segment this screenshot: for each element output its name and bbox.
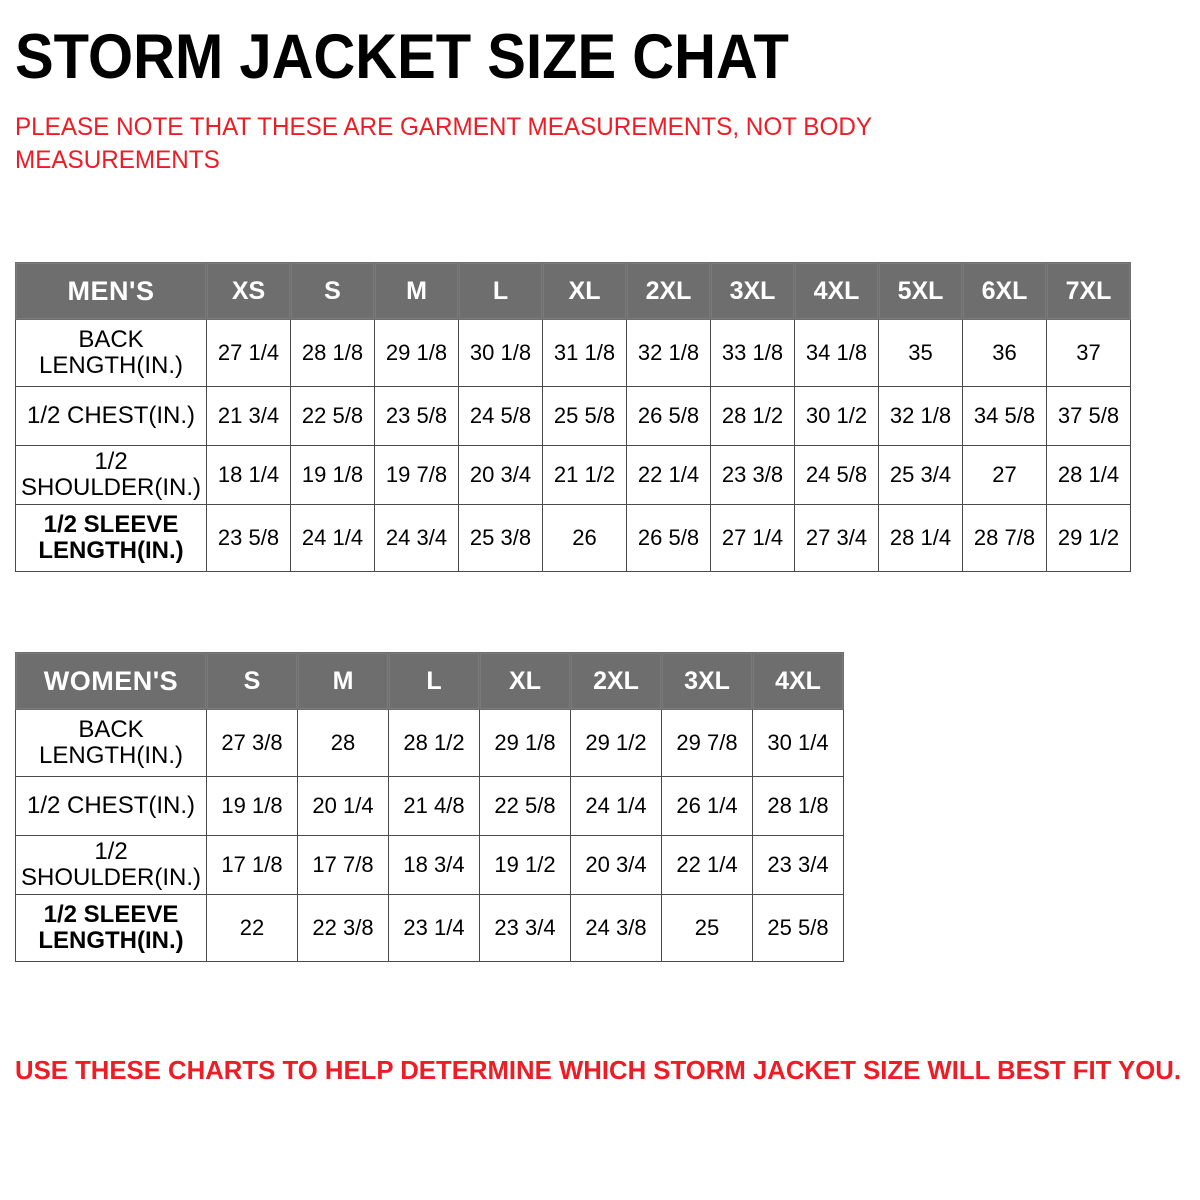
measurement-value: 32 1/8 — [879, 387, 963, 446]
size-header-2xl: 2XL — [627, 263, 711, 320]
measurement-value: 23 5/8 — [207, 505, 291, 572]
measurement-value: 34 1/8 — [795, 320, 879, 387]
measurement-value: 26 1/4 — [662, 777, 753, 836]
measurement-value: 35 — [879, 320, 963, 387]
measurement-value: 23 3/4 — [480, 895, 571, 962]
measurement-value: 28 1/8 — [753, 777, 844, 836]
measurement-value: 28 1/2 — [711, 387, 795, 446]
measurement-value: 17 7/8 — [298, 836, 389, 895]
measurement-value: 25 — [662, 895, 753, 962]
measurement-value: 19 1/8 — [291, 446, 375, 505]
measurement-value: 30 1/4 — [753, 710, 844, 777]
womens-size-table-block: WOMEN'SSMLXL2XL3XL4XL BACK LENGTH(IN.)27… — [15, 652, 844, 962]
measurement-value: 37 — [1047, 320, 1131, 387]
table-row: BACK LENGTH(IN.)27 3/82828 1/229 1/829 1… — [16, 710, 844, 777]
measurement-value: 22 5/8 — [291, 387, 375, 446]
size-header-xl: XL — [543, 263, 627, 320]
size-header-6xl: 6XL — [963, 263, 1047, 320]
measurement-label: 1/2 SLEEVE LENGTH(IN.) — [16, 895, 207, 962]
measurement-value: 18 1/4 — [207, 446, 291, 505]
measurement-value: 31 1/8 — [543, 320, 627, 387]
size-header-4xl: 4XL — [753, 653, 844, 710]
measurement-label: BACK LENGTH(IN.) — [16, 320, 207, 387]
measurement-value: 23 1/4 — [389, 895, 480, 962]
size-header-s: S — [207, 653, 298, 710]
measurement-label: BACK LENGTH(IN.) — [16, 710, 207, 777]
measurement-value: 21 1/2 — [543, 446, 627, 505]
size-header-7xl: 7XL — [1047, 263, 1131, 320]
table-row: 1/2 SHOULDER(IN.)18 1/419 1/819 7/820 3/… — [16, 446, 1131, 505]
table-row: BACK LENGTH(IN.)27 1/428 1/829 1/830 1/8… — [16, 320, 1131, 387]
measurement-value: 21 3/4 — [207, 387, 291, 446]
mens-category-header: MEN'S — [16, 263, 207, 320]
measurement-value: 37 5/8 — [1047, 387, 1131, 446]
womens-category-header: WOMEN'S — [16, 653, 207, 710]
size-header-l: L — [459, 263, 543, 320]
table-row: 1/2 SLEEVE LENGTH(IN.)2222 3/823 1/423 3… — [16, 895, 844, 962]
measurement-label: 1/2 CHEST(IN.) — [16, 387, 207, 446]
measurement-value: 27 1/4 — [207, 320, 291, 387]
measurement-value: 20 3/4 — [571, 836, 662, 895]
measurement-value: 29 1/2 — [1047, 505, 1131, 572]
measurement-value: 22 5/8 — [480, 777, 571, 836]
measurement-value: 24 3/8 — [571, 895, 662, 962]
womens-table-header: WOMEN'SSMLXL2XL3XL4XL — [16, 653, 844, 710]
measurement-value: 24 1/4 — [571, 777, 662, 836]
measurement-value: 28 1/4 — [1047, 446, 1131, 505]
measurement-label: 1/2 SLEEVE LENGTH(IN.) — [16, 505, 207, 572]
measurement-value: 29 7/8 — [662, 710, 753, 777]
table-row: 1/2 CHEST(IN.)19 1/820 1/421 4/822 5/824… — [16, 777, 844, 836]
measurement-value: 32 1/8 — [627, 320, 711, 387]
measurement-label: 1/2 SHOULDER(IN.) — [16, 836, 207, 895]
womens-table-body: BACK LENGTH(IN.)27 3/82828 1/229 1/829 1… — [16, 710, 844, 962]
measurement-value: 23 3/4 — [753, 836, 844, 895]
measurement-value: 18 3/4 — [389, 836, 480, 895]
measurement-value: 23 5/8 — [375, 387, 459, 446]
measurement-value: 19 7/8 — [375, 446, 459, 505]
measurement-value: 25 3/4 — [879, 446, 963, 505]
measurement-value: 24 1/4 — [291, 505, 375, 572]
garment-measurement-note: PLEASE NOTE THAT THESE ARE GARMENT MEASU… — [15, 89, 946, 177]
measurement-value: 17 1/8 — [207, 836, 298, 895]
measurement-value: 26 5/8 — [627, 387, 711, 446]
measurement-value: 25 3/8 — [459, 505, 543, 572]
measurement-value: 28 7/8 — [963, 505, 1047, 572]
mens-size-table: MEN'SXSSMLXL2XL3XL4XL5XL6XL7XL BACK LENG… — [15, 262, 1131, 572]
measurement-value: 20 3/4 — [459, 446, 543, 505]
size-header-2xl: 2XL — [571, 653, 662, 710]
measurement-value: 28 1/4 — [879, 505, 963, 572]
size-header-m: M — [375, 263, 459, 320]
page-title: STORM JACKET SIZE CHAT — [15, 0, 1091, 89]
table-header-row: WOMEN'SSMLXL2XL3XL4XL — [16, 653, 844, 710]
measurement-value: 26 5/8 — [627, 505, 711, 572]
measurement-value: 22 1/4 — [627, 446, 711, 505]
measurement-value: 27 — [963, 446, 1047, 505]
size-header-xl: XL — [480, 653, 571, 710]
size-header-3xl: 3XL — [711, 263, 795, 320]
size-header-xs: XS — [207, 263, 291, 320]
mens-table-header: MEN'SXSSMLXL2XL3XL4XL5XL6XL7XL — [16, 263, 1131, 320]
measurement-value: 30 1/8 — [459, 320, 543, 387]
measurement-value: 19 1/8 — [207, 777, 298, 836]
measurement-value: 25 5/8 — [543, 387, 627, 446]
measurement-value: 29 1/8 — [375, 320, 459, 387]
measurement-label: 1/2 CHEST(IN.) — [16, 777, 207, 836]
measurement-value: 29 1/2 — [571, 710, 662, 777]
measurement-value: 26 — [543, 505, 627, 572]
table-header-row: MEN'SXSSMLXL2XL3XL4XL5XL6XL7XL — [16, 263, 1131, 320]
measurement-value: 28 1/8 — [291, 320, 375, 387]
measurement-label: 1/2 SHOULDER(IN.) — [16, 446, 207, 505]
measurement-value: 29 1/8 — [480, 710, 571, 777]
table-row: 1/2 SLEEVE LENGTH(IN.)23 5/824 1/424 3/4… — [16, 505, 1131, 572]
size-header-4xl: 4XL — [795, 263, 879, 320]
measurement-value: 27 3/4 — [795, 505, 879, 572]
table-row: 1/2 CHEST(IN.)21 3/422 5/823 5/824 5/825… — [16, 387, 1131, 446]
measurement-value: 28 1/2 — [389, 710, 480, 777]
measurement-value: 24 5/8 — [459, 387, 543, 446]
measurement-value: 27 1/4 — [711, 505, 795, 572]
measurement-value: 19 1/2 — [480, 836, 571, 895]
size-header-m: M — [298, 653, 389, 710]
measurement-value: 33 1/8 — [711, 320, 795, 387]
size-chart-page: STORM JACKET SIZE CHAT PLEASE NOTE THAT … — [0, 0, 1200, 1200]
size-header-l: L — [389, 653, 480, 710]
measurement-value: 28 — [298, 710, 389, 777]
measurement-value: 34 5/8 — [963, 387, 1047, 446]
table-row: 1/2 SHOULDER(IN.)17 1/817 7/818 3/419 1/… — [16, 836, 844, 895]
measurement-value: 30 1/2 — [795, 387, 879, 446]
footer-note: USE THESE CHARTS TO HELP DETERMINE WHICH… — [15, 1055, 1181, 1086]
size-header-5xl: 5XL — [879, 263, 963, 320]
measurement-value: 24 5/8 — [795, 446, 879, 505]
womens-size-table: WOMEN'SSMLXL2XL3XL4XL BACK LENGTH(IN.)27… — [15, 652, 844, 962]
measurement-value: 22 — [207, 895, 298, 962]
measurement-value: 20 1/4 — [298, 777, 389, 836]
size-header-s: S — [291, 263, 375, 320]
measurement-value: 24 3/4 — [375, 505, 459, 572]
mens-table-body: BACK LENGTH(IN.)27 1/428 1/829 1/830 1/8… — [16, 320, 1131, 572]
measurement-value: 23 3/8 — [711, 446, 795, 505]
mens-size-table-block: MEN'SXSSMLXL2XL3XL4XL5XL6XL7XL BACK LENG… — [15, 262, 1131, 572]
measurement-value: 27 3/8 — [207, 710, 298, 777]
measurement-value: 22 1/4 — [662, 836, 753, 895]
size-header-3xl: 3XL — [662, 653, 753, 710]
measurement-value: 21 4/8 — [389, 777, 480, 836]
measurement-value: 25 5/8 — [753, 895, 844, 962]
measurement-value: 22 3/8 — [298, 895, 389, 962]
measurement-value: 36 — [963, 320, 1047, 387]
